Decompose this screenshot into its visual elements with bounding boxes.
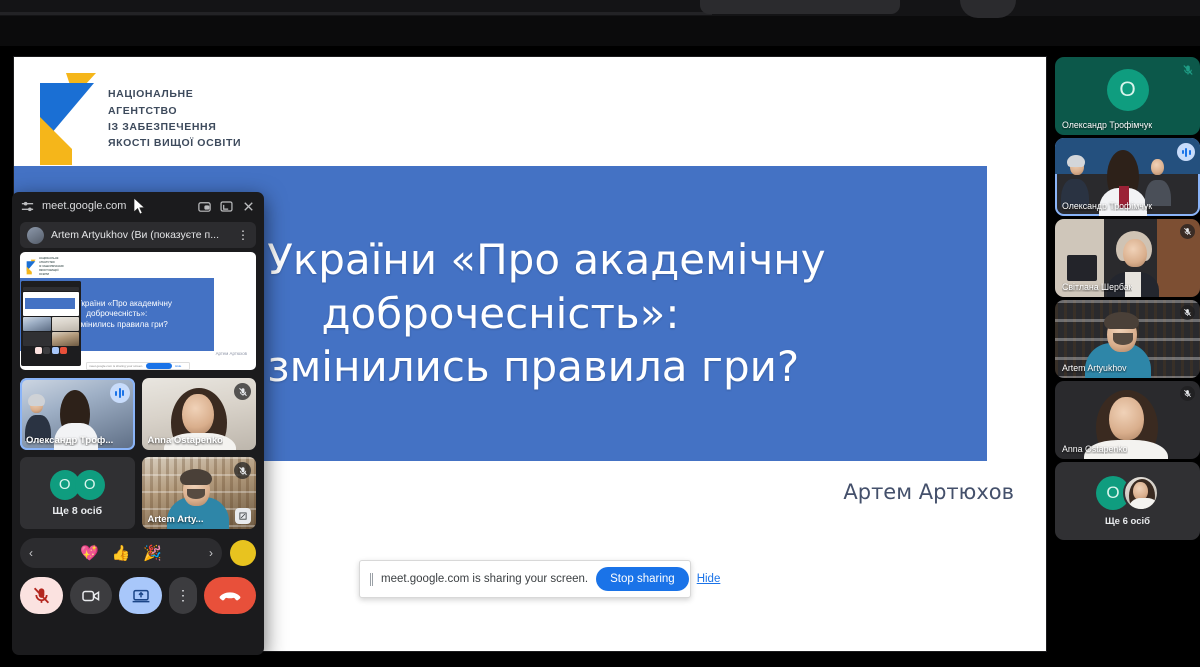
slide-title-line-3: чи змінились правила гри? xyxy=(202,340,799,394)
reactions-row: ‹ 💖 👍 🎉 › xyxy=(20,538,256,568)
slide-author: Артем Артюхов xyxy=(843,480,1014,504)
present-screen-button[interactable] xyxy=(119,577,162,614)
screenshare-preview[interactable]: НАЦІОНАЛЬНЕ АГЕНТСТВО ІЗ ЗАБЕЗПЕЧЕННЯ ЯК… xyxy=(20,252,256,370)
mic-off-icon xyxy=(1180,305,1195,320)
preview-share-message: meet.google.com is sharing your screen. xyxy=(89,364,143,368)
reaction-thumbsup-icon[interactable]: 👍 xyxy=(112,546,131,561)
share-message: meet.google.com is sharing your screen. xyxy=(381,573,588,585)
preview-title-line-2: доброчесність»: xyxy=(86,309,147,320)
reaction-heart-icon[interactable]: 💖 xyxy=(80,546,99,561)
chevron-left-icon[interactable]: ‹ xyxy=(29,546,33,560)
presenter-name: Artem Artyukhov (Ви (показуєте п... xyxy=(51,229,230,241)
recorded-screen: НАЦІОНАЛЬНЕ АГЕНТСТВО ІЗ ЗАБЕЗПЕЧЕННЯ ЯК… xyxy=(0,0,1200,667)
avatar xyxy=(27,227,44,244)
nested-titlebar xyxy=(21,281,81,286)
screen-share-infobar: meet.google.com is sharing your screen. … xyxy=(359,560,691,598)
chrome-toolbar-line xyxy=(0,12,712,15)
screen-top-band xyxy=(0,0,1200,46)
preview-author: Артем Артюхов xyxy=(216,351,247,356)
mouse-cursor-icon xyxy=(134,198,146,216)
chrome-tab-shape xyxy=(700,0,900,14)
rail-tile-label: Artem Artyukhov xyxy=(1062,363,1127,373)
logo-line-4: ЯКОСТІ ВИЩОЇ ОСВІТИ xyxy=(108,135,241,151)
rail-tile-label: Олександр Трофімчук xyxy=(1062,201,1152,211)
slide-title-line-1: кон України «Про академічну xyxy=(175,233,825,287)
preview-title-line-3: чи змінились правила гри? xyxy=(66,320,168,331)
microphone-off-button[interactable] xyxy=(20,577,63,614)
naqa-logo-mark xyxy=(36,71,98,167)
expand-icon[interactable] xyxy=(219,199,234,214)
avatar-initial: О xyxy=(1107,69,1149,111)
tile-label: Anna Ostapenko xyxy=(148,435,224,446)
logo-line-1: НАЦІОНАЛЬНЕ xyxy=(108,86,241,102)
tile-more-participants[interactable]: О О Ще 8 осіб xyxy=(20,457,135,529)
slide-title-line-2: доброчесність»: xyxy=(321,287,679,341)
logo-line-3: ІЗ ЗАБЕЗПЕЧЕННЯ xyxy=(108,119,241,135)
avatar-photo xyxy=(1123,475,1159,511)
tile-label: Artem Arty... xyxy=(148,514,204,525)
avatar-initial: О xyxy=(75,470,105,500)
overflow-label: Ще 8 осіб xyxy=(52,505,102,517)
presenter-nameplate[interactable]: Artem Artyukhov (Ви (показуєте п... ⋮ xyxy=(20,222,256,248)
stop-sharing-button[interactable]: Stop sharing xyxy=(596,567,689,591)
logo-line-2: АГЕНТСТВО xyxy=(108,103,241,119)
preview-share-infobar: meet.google.com is sharing your screen. … xyxy=(86,362,190,370)
preview-logo-text: НАЦІОНАЛЬНЕ АГЕНТСТВО ІЗ ЗАБЕЗПЕЧЕННЯ ЯК… xyxy=(39,257,68,276)
preview-naqa-logo: НАЦІОНАЛЬНЕ АГЕНТСТВО ІЗ ЗАБЕЗПЕЧЕННЯ ЯК… xyxy=(26,256,68,278)
settings-sliders-icon[interactable] xyxy=(20,199,35,214)
rail-tile-artem-artyukhov[interactable]: Artem Artyukhov xyxy=(1055,300,1200,378)
drag-grip-icon xyxy=(370,573,373,586)
preview-logo-mark xyxy=(26,258,36,276)
nested-preview xyxy=(23,292,79,316)
raise-hand-icon[interactable] xyxy=(230,540,256,566)
reactions-pill: ‹ 💖 👍 🎉 › xyxy=(20,538,222,568)
emoji-list: 💖 👍 🎉 xyxy=(80,546,162,561)
rail-tile-label: Олександр Трофімчук xyxy=(1062,120,1152,130)
overflow-avatars: О xyxy=(1096,475,1159,511)
preview-hide-link: Hide xyxy=(175,364,181,368)
rail-tile-label: Світлана Шербак xyxy=(1062,282,1132,292)
more-options-button[interactable]: ⋮ xyxy=(169,577,197,614)
rail-tile-svitlana-shcherbak[interactable]: Світлана Шербак xyxy=(1055,219,1200,297)
rail-tile-anna-ostapenko[interactable]: Anna Ostapenko xyxy=(1055,381,1200,459)
leave-call-button[interactable] xyxy=(204,577,256,614)
close-icon[interactable] xyxy=(241,199,256,214)
mic-off-icon xyxy=(1180,62,1195,77)
mic-off-icon xyxy=(1180,224,1195,239)
rail-tile-oleksandr-trofimchuk-avatar[interactable]: О Олександр Трофімчук xyxy=(1055,57,1200,135)
speaking-waveform-icon xyxy=(1177,143,1195,161)
chevron-right-icon[interactable]: › xyxy=(209,546,213,560)
preview-nested-pip xyxy=(21,281,81,366)
tile-anna-ostapenko[interactable]: Anna Ostapenko xyxy=(142,378,257,450)
call-controls: ⋮ xyxy=(20,577,256,614)
hide-infobar-link[interactable]: Hide xyxy=(697,573,721,585)
nested-controls xyxy=(23,347,79,354)
picture-in-picture-icon[interactable] xyxy=(197,199,212,214)
pip-url: meet.google.com xyxy=(42,200,190,212)
preview-stop-sharing-button xyxy=(146,363,172,369)
rail-tile-oleksandr-trofimchuk-video[interactable]: Олександр Трофімчук xyxy=(1055,138,1200,216)
mic-off-icon xyxy=(1180,386,1195,401)
tile-label: Олександр Троф... xyxy=(26,435,113,446)
speaking-waveform-icon xyxy=(110,383,130,403)
participant-rail: О Олександр Трофімчук xyxy=(1055,57,1200,557)
camera-button[interactable] xyxy=(70,577,113,614)
naqa-logo: НАЦІОНАЛЬНЕ АГЕНТСТВО ІЗ ЗАБЕЗПЕЧЕННЯ ЯК… xyxy=(36,69,236,169)
overflow-avatars: О О xyxy=(50,470,105,500)
mic-off-icon xyxy=(234,462,251,479)
nested-tiles xyxy=(23,317,79,346)
naqa-logo-text: НАЦІОНАЛЬНЕ АГЕНТСТВО ІЗ ЗАБЕЗПЕЧЕННЯ ЯК… xyxy=(108,86,241,151)
pip-participant-tiles: Олександр Троф... Anna Ostapenko О xyxy=(20,378,256,529)
pin-icon[interactable] xyxy=(235,508,251,524)
tile-artem-artyukhov[interactable]: Artem Arty... xyxy=(142,457,257,529)
more-vertical-icon[interactable]: ⋮ xyxy=(237,228,249,242)
rail-tile-more-participants[interactable]: О Ще 6 осіб xyxy=(1055,462,1200,540)
mic-off-icon xyxy=(234,383,251,400)
nested-nameplate xyxy=(23,287,79,291)
tile-oleksandr-trofimchuk[interactable]: Олександр Троф... xyxy=(20,378,135,450)
meet-pip-window[interactable]: meet.google.com Artem Artyukhov (Ви xyxy=(12,192,264,655)
reaction-party-icon[interactable]: 🎉 xyxy=(143,546,162,561)
rail-tile-label: Anna Ostapenko xyxy=(1062,444,1128,454)
preview-logo-line-4: ЯКОСТІ ВИЩОЇ ОСВІТИ xyxy=(39,269,68,277)
overflow-label: Ще 6 осіб xyxy=(1105,516,1150,527)
